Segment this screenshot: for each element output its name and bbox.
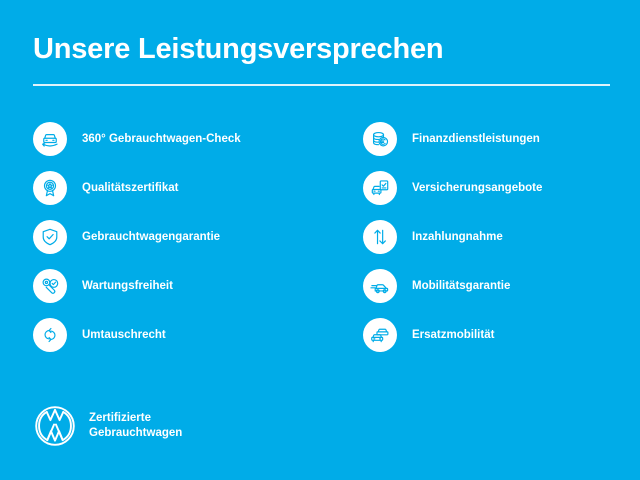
promise-item-gebrauchtwagengarantie[interactable]: Gebrauchtwagengarantie — [33, 220, 363, 254]
promise-label: Mobilitätsgarantie — [412, 279, 510, 293]
promise-item-ersatzmobilitaet[interactable]: Ersatzmobilität — [363, 318, 628, 352]
promise-label: Qualitätszertifikat — [82, 181, 179, 195]
promise-item-finanzdienstleistungen[interactable]: Finanzdienstleistungen — [363, 122, 628, 156]
promise-item-wartungsfreiheit[interactable]: Wartungsfreiheit — [33, 269, 363, 303]
promise-label: Umtauschrecht — [82, 328, 166, 342]
shield-check-icon — [33, 220, 67, 254]
two-cars-icon — [363, 318, 397, 352]
coins-euro-icon — [363, 122, 397, 156]
promises-column-right: Finanzdienstleistungen — [363, 122, 628, 367]
footer-line-1: Zertifizierte — [89, 411, 182, 426]
page-title: Unsere Leistungsversprechen — [33, 32, 443, 66]
promise-item-versicherungsangebote[interactable]: Versicherungsangebote — [363, 171, 628, 205]
promise-label: Finanzdienstleistungen — [412, 132, 540, 146]
promises-column-left: 360° Gebrauchtwagen-Check Qualitätszerti… — [33, 122, 363, 367]
promise-item-mobilitaetsgarantie[interactable]: Mobilitätsgarantie — [363, 269, 628, 303]
promise-label: Ersatzmobilität — [412, 328, 494, 342]
wrench-check-icon — [33, 269, 67, 303]
title-divider — [33, 84, 610, 86]
car-document-check-icon — [363, 171, 397, 205]
footer-brand-text: Zertifizierte Gebrauchtwagen — [89, 411, 182, 441]
award-rosette-icon — [33, 171, 67, 205]
promise-item-inzahlungnahme[interactable]: Inzahlungnahme — [363, 220, 628, 254]
car-motion-icon — [363, 269, 397, 303]
promise-item-qualitaetszertifikat[interactable]: Qualitätszertifikat — [33, 171, 363, 205]
car-360-check-icon — [33, 122, 67, 156]
promise-label: 360° Gebrauchtwagen-Check — [82, 132, 241, 146]
exchange-arrows-icon — [33, 318, 67, 352]
up-down-arrows-icon — [363, 220, 397, 254]
slide-root: Unsere Leistungsversprechen 360° Gebrauc… — [0, 0, 640, 480]
promise-label: Inzahlungnahme — [412, 230, 503, 244]
promise-item-gebrauchtwagen-check[interactable]: 360° Gebrauchtwagen-Check — [33, 122, 363, 156]
footer-line-2: Gebrauchtwagen — [89, 426, 182, 441]
promise-item-umtauschrecht[interactable]: Umtauschrecht — [33, 318, 363, 352]
footer-brand: Zertifizierte Gebrauchtwagen — [33, 404, 182, 448]
promises-grid: 360° Gebrauchtwagen-Check Qualitätszerti… — [0, 122, 640, 367]
vw-logo — [33, 404, 77, 448]
promise-label: Gebrauchtwagengarantie — [82, 230, 220, 244]
promise-label: Versicherungsangebote — [412, 181, 542, 195]
promise-label: Wartungsfreiheit — [82, 279, 173, 293]
